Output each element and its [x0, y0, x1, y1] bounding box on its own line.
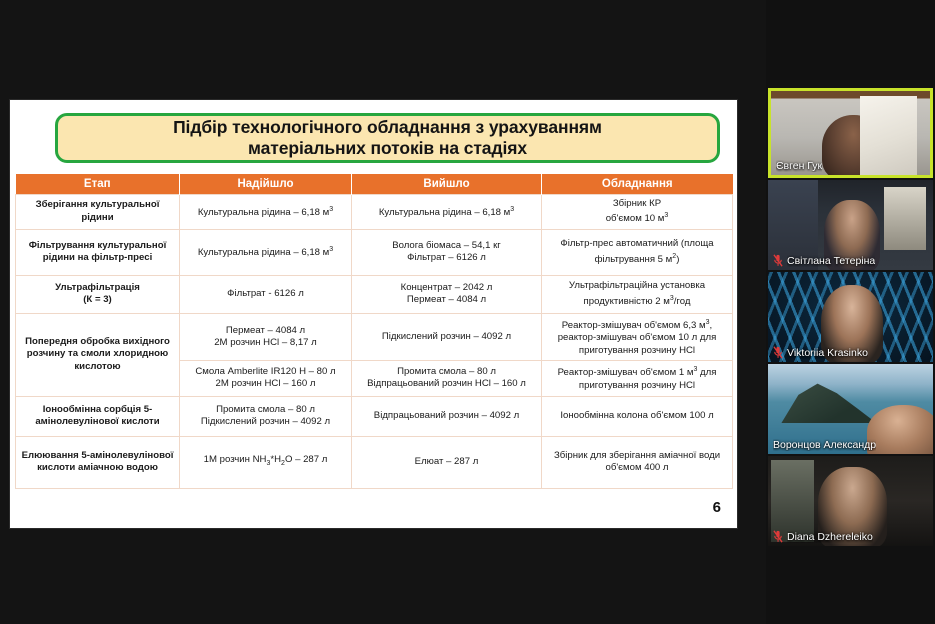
participant-filmstrip[interactable]: Євген ГукСвітлана ТетерінаViktoriia Kras… — [766, 0, 935, 624]
cell-output: Відпрацьований розчин – 4092 л — [352, 396, 542, 436]
cell-stage: Іонообмінна сорбція 5-амінолевулінової к… — [16, 396, 180, 436]
table-header-row: Етап Надійшло Вийшло Обладнання — [16, 174, 733, 194]
slide-title-line-2: матеріальних потоків на стадіях — [248, 138, 527, 159]
cell-input: Пермеат – 4084 л2М розчин HCl – 8,17 л — [180, 313, 352, 361]
participant-tile[interactable]: Євген Гук — [768, 88, 933, 178]
participant-name: Євген Гук — [776, 160, 822, 172]
cell-equipment: Ультрафільтраційна установка продуктивні… — [542, 275, 733, 313]
cell-input: Промита смола – 80 лПідкислений розчин –… — [180, 396, 352, 436]
mic-muted-icon — [773, 346, 783, 359]
cell-stage: Зберігання культуральної рідини — [16, 194, 180, 229]
slide-title-box: Підбір технологічного обладнання з ураху… — [55, 113, 720, 163]
table-row: Зберігання культуральної рідиниКультурал… — [16, 194, 733, 229]
cell-stage: Попередня обробка вихідного розчину та с… — [16, 313, 180, 396]
cell-output: Культуральна рідина – 6,18 м3 — [352, 194, 542, 229]
table-body: Зберігання культуральної рідиниКультурал… — [16, 194, 733, 488]
cell-equipment: Іонообмінна колона об'ємом 100 л — [542, 396, 733, 436]
cell-input: 1М розчин NH3*H2O – 287 л — [180, 436, 352, 488]
cell-output: Концентрат – 2042 лПермеат – 4084 л — [352, 275, 542, 313]
cell-equipment: Збірник для зберігання аміачної води об'… — [542, 436, 733, 488]
cell-input: Культуральна рідина – 6,18 м3 — [180, 194, 352, 229]
process-table: Етап Надійшло Вийшло Обладнання Зберіган… — [15, 174, 733, 489]
table-row: Попередня обробка вихідного розчину та с… — [16, 313, 733, 361]
column-header-stage: Етап — [16, 174, 180, 194]
participant-name: Світлана Тетеріна — [787, 255, 875, 267]
cell-input: Культуральна рідина – 6,18 м3 — [180, 229, 352, 275]
cell-output: Волога біомаса – 54,1 кгФільтрат – 6126 … — [352, 229, 542, 275]
participant-tile[interactable]: Diana Dzhereleiko — [768, 456, 933, 546]
cell-stage: Елюювання 5-амінолевулінової кислоти амі… — [16, 436, 180, 488]
participant-nameplate: Воронцов Александр — [768, 439, 881, 451]
participant-name: Viktoriia Krasinko — [787, 347, 868, 359]
cell-equipment: Фільтр-прес автоматичний (площа фільтрув… — [542, 229, 733, 275]
cell-stage: Ультрафільтрація(К = 3) — [16, 275, 180, 313]
cell-input: Фільтрат - 6126 л — [180, 275, 352, 313]
table-row: Ультрафільтрація(К = 3)Фільтрат - 6126 л… — [16, 275, 733, 313]
presentation-slide: Підбір технологічного обладнання з ураху… — [10, 100, 737, 528]
participant-nameplate: Світлана Тетеріна — [768, 254, 880, 267]
column-header-equipment: Обладнання — [542, 174, 733, 194]
participant-avatar — [822, 115, 886, 178]
mic-muted-icon — [773, 530, 783, 543]
participant-name: Diana Dzhereleiko — [787, 531, 873, 543]
cell-output: Промита смола – 80 лВідпрацьований розчи… — [352, 361, 542, 396]
participant-tile[interactable]: Світлана Тетеріна — [768, 180, 933, 270]
mic-muted-icon — [773, 254, 783, 267]
participant-tile[interactable]: Viktoriia Krasinko — [768, 272, 933, 362]
cell-equipment: Збірник КРоб'ємом 10 м3 — [542, 194, 733, 229]
table-row: Іонообмінна сорбція 5-амінолевулінової к… — [16, 396, 733, 436]
cell-output: Підкислений розчин – 4092 л — [352, 313, 542, 361]
meeting-screen-share-view: Підбір технологічного обладнання з ураху… — [0, 0, 935, 624]
slide-number: 6 — [713, 499, 721, 516]
participant-nameplate: Diana Dzhereleiko — [768, 530, 878, 543]
table-row: Елюювання 5-амінолевулінової кислоти амі… — [16, 436, 733, 488]
cell-equipment: Реактор-змішувач об'ємом 1 м3 для пригот… — [542, 361, 733, 396]
cell-stage: Фільтрування культуральної рідини на філ… — [16, 229, 180, 275]
participant-nameplate: Євген Гук — [771, 160, 827, 172]
participant-name: Воронцов Александр — [773, 439, 876, 451]
table-row: Фільтрування культуральної рідини на філ… — [16, 229, 733, 275]
slide-title-line-1: Підбір технологічного обладнання з ураху… — [173, 117, 602, 138]
cell-input: Смола Amberlite IR120 H – 80 л2М розчин … — [180, 361, 352, 396]
cell-output: Елюат – 287 л — [352, 436, 542, 488]
participant-nameplate: Viktoriia Krasinko — [768, 346, 873, 359]
cell-equipment: Реактор-змішувач об'ємом 6,3 м3, реактор… — [542, 313, 733, 361]
column-header-input: Надійшло — [180, 174, 352, 194]
participant-tile[interactable]: Воронцов Александр — [768, 364, 933, 454]
column-header-output: Вийшло — [352, 174, 542, 194]
